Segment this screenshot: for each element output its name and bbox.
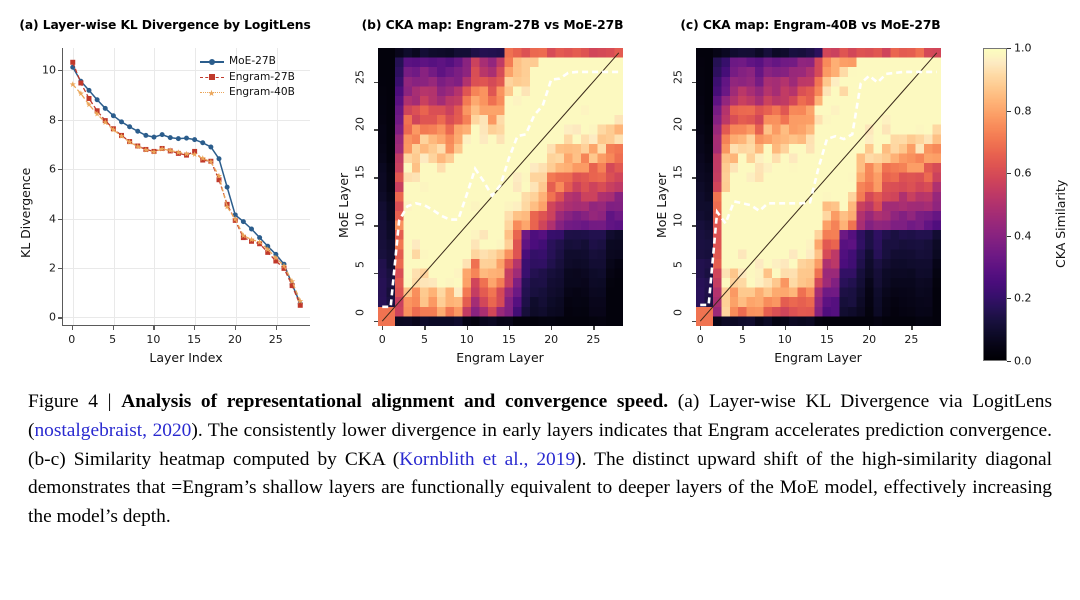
citation-nostalgebraist[interactable]: nostalgebraist, 2020 (34, 420, 191, 441)
heatmap-ytick-label: 0 (354, 309, 367, 333)
heatmap-ytickmark (374, 177, 378, 178)
legend-swatch-icon (200, 87, 224, 98)
legend-swatch-icon (200, 72, 224, 83)
heatmap-ytickmark (374, 321, 378, 322)
panel-a-marker (152, 135, 157, 140)
heatmap-xtickmark (424, 326, 425, 330)
panel-a-marker (70, 60, 75, 65)
heatmap-ytickmark (692, 273, 696, 274)
heatmap-ytickmark (692, 129, 696, 130)
colorbar-tickmark (1007, 298, 1011, 299)
heatmap-xtickmark (869, 326, 870, 330)
heatmap-xtickmark (700, 326, 701, 330)
panel-a-ytick-label: 10 (30, 64, 56, 77)
figure-4: (a) Layer-wise KL Divergence by LogitLen… (0, 0, 1080, 600)
panel-b-cka-engram27b: (b) CKA map: Engram-27B vs MoE-27B Engra… (330, 18, 655, 363)
colorbar-tick-label: 0.8 (1014, 104, 1032, 117)
legend-item-engram-27b[interactable]: Engram-27B (200, 70, 295, 86)
panel-a-xtick-label: 20 (228, 333, 242, 346)
panel-a-xtick-label: 25 (269, 333, 283, 346)
colorbar-tick-label: 0.6 (1014, 167, 1032, 180)
panel-a-line-engram-40b (73, 84, 300, 301)
panel-a-ytick-label: 6 (30, 163, 56, 176)
panel-a-marker (225, 185, 230, 190)
colorbar-tickmark (1007, 48, 1011, 49)
panel-a-marker (95, 97, 100, 102)
panel-a-ytickmark (58, 70, 62, 71)
panel-a-marker (200, 140, 205, 145)
panel-b-xlabel: Engram Layer (456, 350, 544, 365)
colorbar-label: CKA Similarity (1053, 180, 1068, 268)
panel-a-title: (a) Layer-wise KL Divergence by LogitLen… (0, 18, 330, 32)
heatmap-ytickmark (692, 225, 696, 226)
heatmap-ytick-label: 5 (354, 261, 367, 285)
panel-c-xlabel: Engram Layer (774, 350, 862, 365)
heatmap-ytickmark (374, 82, 378, 83)
panel-a-marker (135, 129, 140, 134)
heatmap-xtickmark (593, 326, 594, 330)
colorbar-tick-label: 0.4 (1014, 229, 1032, 242)
heatmap-ytickmark (692, 321, 696, 322)
panel-c-title: (c) CKA map: Engram-40B vs MoE-27B (648, 18, 973, 32)
heatmap-ytick-label: 10 (672, 213, 685, 237)
panel-a-marker (273, 258, 278, 263)
panel-a-xtick-label: 5 (109, 333, 116, 346)
heatmap-xtick-label: 15 (820, 333, 834, 346)
panel-a-marker (241, 219, 246, 224)
panel-a-legend: MoE-27BEngram-27BEngram-40B (200, 54, 295, 101)
heatmap-xtickmark (467, 326, 468, 330)
panel-a-xtickmark (194, 326, 195, 330)
heatmap-xtick-label: 20 (862, 333, 876, 346)
diagonal-reference-line (700, 53, 937, 321)
panel-a-ytick-label: 4 (30, 212, 56, 225)
heatmap-ytickmark (692, 177, 696, 178)
heatmap-xtick-label: 15 (502, 333, 516, 346)
colorbar-tick-label: 0.0 (1014, 355, 1032, 368)
panel-a-xtick-label: 0 (68, 333, 75, 346)
panel-a-xtickmark (276, 326, 277, 330)
caption-figure-number: Figure 4 | (28, 391, 121, 412)
heatmap-ytick-label: 15 (354, 165, 367, 189)
panel-a-marker (111, 113, 116, 118)
panel-a-xtickmark (72, 326, 73, 330)
panel-a-marker (249, 226, 254, 231)
heatmap-ytick-label: 10 (354, 213, 367, 237)
heatmap-ytick-label: 0 (672, 309, 685, 333)
panel-a-marker (176, 136, 181, 141)
panel-a-marker (168, 135, 173, 140)
heatmap-ytick-label: 20 (672, 117, 685, 141)
panel-a-marker (127, 124, 132, 129)
heatmap-xtick-label: 5 (421, 333, 428, 346)
panel-a-xlabel: Layer Index (149, 350, 222, 365)
heatmap-xtickmark (827, 326, 828, 330)
heatmap-ytick-label: 15 (672, 165, 685, 189)
colorbar-tickmark (1007, 236, 1011, 237)
panel-a-marker (103, 106, 108, 111)
argmax-alignment-line (700, 72, 937, 305)
legend-item-label: Engram-27B (229, 70, 295, 86)
heatmap-xtick-label: 5 (739, 333, 746, 346)
panel-a-ytick-label: 2 (30, 261, 56, 274)
heatmap-xtick-label: 0 (697, 333, 704, 346)
heatmap-ytickmark (692, 82, 696, 83)
heatmap-xtick-label: 20 (544, 333, 558, 346)
heatmap-ytick-label: 5 (672, 261, 685, 285)
panel-a-ytickmark (58, 169, 62, 170)
panel-a-kl-divergence: (a) Layer-wise KL Divergence by LogitLen… (0, 18, 330, 363)
heatmap-ytick-label: 25 (354, 70, 367, 94)
panel-a-xtickmark (235, 326, 236, 330)
heatmap-ytick-label: 20 (354, 117, 367, 141)
panel-b-ylabel: MoE Layer (336, 173, 351, 238)
colorbar-tickmark (1007, 361, 1011, 362)
panel-b-title: (b) CKA map: Engram-27B vs MoE-27B (330, 18, 655, 32)
heatmap-xtickmark (382, 326, 383, 330)
panel-a-xtickmark (113, 326, 114, 330)
colorbar-tick-label: 1.0 (1014, 42, 1032, 55)
legend-item-label: MoE-27B (229, 54, 276, 70)
panel-a-xtick-label: 10 (146, 333, 160, 346)
panel-c-cka-engram40b: (c) CKA map: Engram-40B vs MoE-27B Engra… (648, 18, 973, 363)
panel-a-ytick-label: 8 (30, 113, 56, 126)
panel-a-marker (87, 88, 92, 93)
citation-kornblith[interactable]: Kornblith et al., 2019 (399, 449, 575, 470)
panel-a-marker (184, 136, 189, 141)
heatmap-xtickmark (785, 326, 786, 330)
heatmap-ytickmark (374, 273, 378, 274)
colorbar-tick-label: 0.2 (1014, 292, 1032, 305)
panel-a-marker (87, 96, 92, 101)
figure-caption: Figure 4 | Analysis of representational … (28, 388, 1052, 532)
panel-a-marker (143, 133, 148, 138)
legend-swatch-icon (200, 56, 224, 67)
panel-a-line-moe-27b (73, 67, 300, 303)
heatmap-ytickmark (374, 129, 378, 130)
argmax-alignment-line (382, 72, 619, 307)
heatmap-xtick-label: 25 (904, 333, 918, 346)
heatmap-xtick-label: 0 (379, 333, 386, 346)
panel-a-marker (217, 156, 222, 161)
panel-a-marker (192, 137, 197, 142)
legend-item-moe-27b[interactable]: MoE-27B (200, 54, 295, 70)
panel-a-ytickmark (58, 219, 62, 220)
colorbar-gradient (983, 48, 1007, 361)
panel-a-marker (160, 132, 165, 137)
heatmap-ytick-label: 25 (672, 70, 685, 94)
panel-a-marker (119, 119, 124, 124)
caption-bold-title: Analysis of representational alignment a… (121, 391, 668, 412)
panel-c-ylabel: MoE Layer (654, 173, 669, 238)
panel-a-xtick-label: 15 (187, 333, 201, 346)
legend-item-label: Engram-40B (229, 85, 295, 101)
colorbar-panel: 0.00.20.40.60.81.0 CKA Similarity (975, 18, 1080, 363)
panel-a-ytickmark (58, 268, 62, 269)
panel-a-marker (78, 80, 83, 85)
heatmap-xtickmark (911, 326, 912, 330)
heatmap-xtickmark (551, 326, 552, 330)
heatmap-xtickmark (509, 326, 510, 330)
panel-a-marker (208, 144, 213, 149)
panel-a-xtickmark (153, 326, 154, 330)
heatmap-ytickmark (374, 225, 378, 226)
colorbar-tickmark (1007, 111, 1011, 112)
colorbar-tickmark (1007, 173, 1011, 174)
panel-b-heatmap (378, 48, 623, 326)
panel-a-ytick-label: 0 (30, 311, 56, 324)
heatmap-xtick-label: 10 (460, 333, 474, 346)
legend-item-engram-40b[interactable]: Engram-40B (200, 85, 295, 101)
panel-a-ytickmark (58, 317, 62, 318)
panel-a-ytickmark (58, 120, 62, 121)
heatmap-xtick-label: 25 (586, 333, 600, 346)
heatmap-xtick-label: 10 (778, 333, 792, 346)
panel-c-heatmap (696, 48, 941, 326)
heatmap-xtickmark (742, 326, 743, 330)
